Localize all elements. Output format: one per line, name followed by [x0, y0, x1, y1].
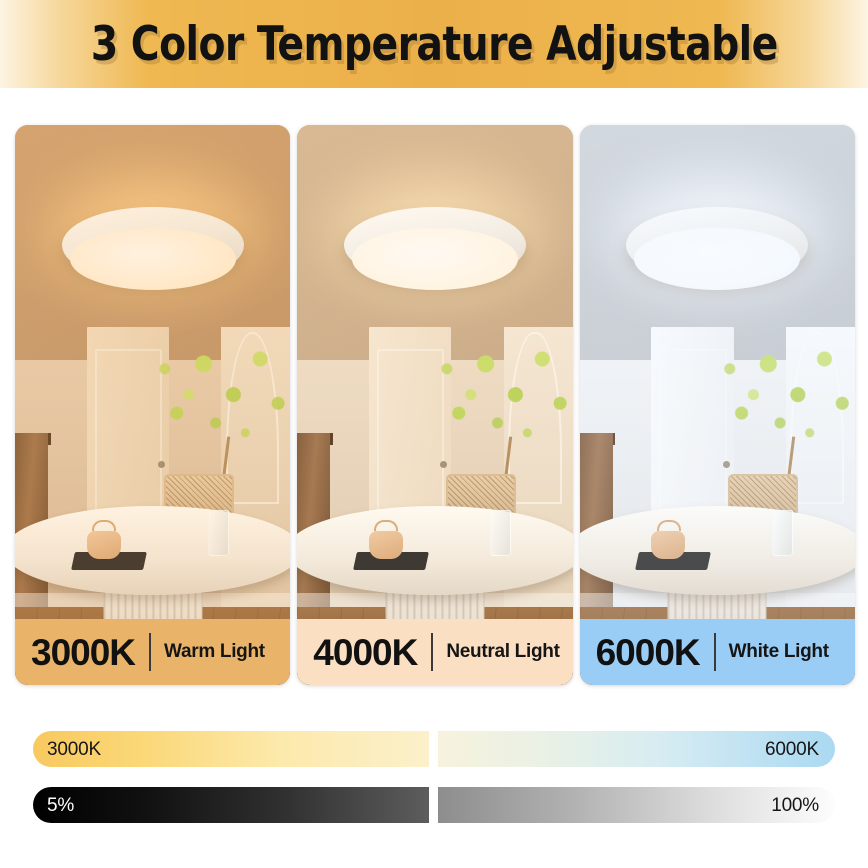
color-temperature-bar[interactable]: 3000K 6000K: [33, 731, 835, 767]
room-scene-neutral: [297, 125, 572, 685]
panel-6000k[interactable]: 6000K White Light: [580, 125, 855, 685]
brightness-bar-left-half[interactable]: 5%: [33, 787, 429, 823]
teapot: [87, 531, 121, 559]
badge-divider: [714, 633, 716, 671]
glass-vase: [772, 510, 793, 556]
badge-6000k: 6000K White Light: [580, 619, 855, 685]
light-lens: [634, 228, 800, 290]
room-scene-warm: [15, 125, 290, 685]
glass-vase: [208, 510, 229, 556]
dining-table: [297, 506, 572, 596]
badge-kelvin-value: 3000K: [31, 634, 135, 671]
room-scene-cool: [580, 125, 855, 685]
badge-divider: [149, 633, 151, 671]
plant-foliage: [147, 327, 290, 450]
badge-kelvin-value: 6000K: [596, 634, 700, 671]
glass-vase: [490, 510, 511, 556]
panel-4000k[interactable]: 4000K Neutral Light: [297, 125, 572, 685]
badge-light-name: Warm Light: [164, 641, 265, 663]
brightness-bar[interactable]: 5% 100%: [33, 787, 835, 823]
plant-foliage: [429, 327, 572, 450]
brightness-max-label: 100%: [771, 796, 819, 815]
color-temperature-panel-row: 3000K Warm Light: [15, 125, 855, 685]
dining-table: [15, 506, 290, 596]
badge-divider: [431, 633, 433, 671]
gradient-bars: 3000K 6000K 5% 100%: [33, 731, 835, 823]
cct-min-label: 3000K: [47, 740, 101, 759]
panel-3000k[interactable]: 3000K Warm Light: [15, 125, 290, 685]
teapot-handle: [657, 520, 681, 531]
brightness-bar-right-half[interactable]: 100%: [438, 787, 836, 823]
light-lens: [352, 228, 518, 290]
badge-light-name: Neutral Light: [446, 641, 559, 663]
badge-light-name: White Light: [729, 641, 829, 663]
teapot-handle: [92, 520, 116, 531]
teapot-handle: [374, 520, 398, 531]
cct-bar-left-half[interactable]: 3000K: [33, 731, 429, 767]
badge-kelvin-value: 4000K: [313, 634, 417, 671]
badge-4000k: 4000K Neutral Light: [297, 619, 572, 685]
teapot: [651, 531, 685, 559]
door-knob: [723, 461, 730, 468]
plant-foliage: [712, 327, 855, 450]
header-banner: 3 Color Temperature Adjustable: [0, 0, 868, 88]
brightness-min-label: 5%: [47, 796, 74, 815]
cct-max-label: 6000K: [765, 740, 819, 759]
badge-3000k: 3000K Warm Light: [15, 619, 290, 685]
dining-table: [580, 506, 855, 596]
teapot: [369, 531, 403, 559]
cct-bar-right-half[interactable]: 6000K: [438, 731, 836, 767]
light-lens: [70, 228, 236, 290]
page-title: 3 Color Temperature Adjustable: [91, 21, 778, 68]
